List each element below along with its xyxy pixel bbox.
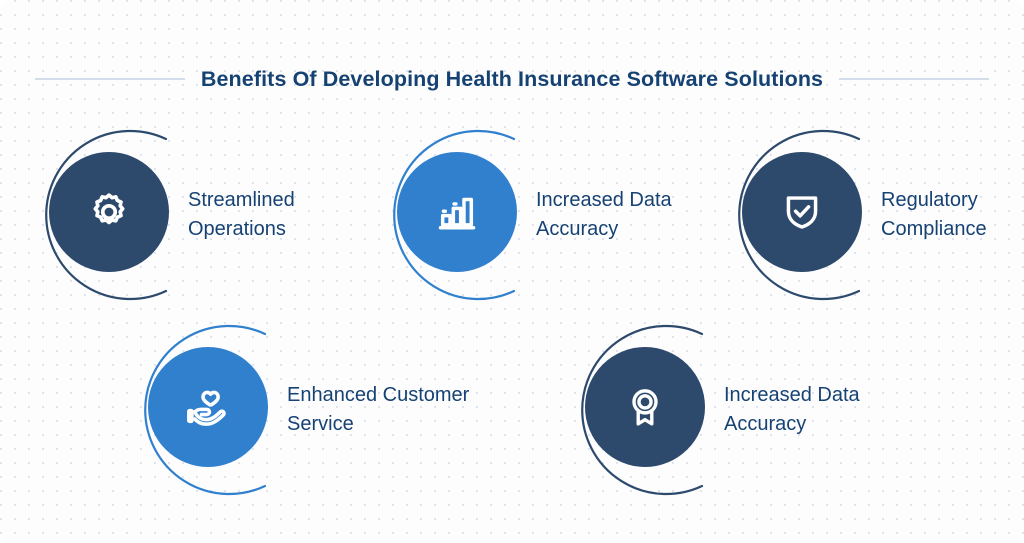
benefit-label: Increased Data Accuracy bbox=[536, 186, 707, 244]
badge-regulatory-compliance bbox=[707, 125, 887, 305]
benefit-item-enhanced-customer-service[interactable]: Enhanced Customer Service bbox=[113, 320, 550, 500]
infographic-canvas: Benefits Of Developing Health Insurance … bbox=[0, 0, 1024, 543]
page-title: Benefits Of Developing Health Insurance … bbox=[201, 67, 823, 92]
badge-streamlined-operations bbox=[14, 125, 194, 305]
title-rule-right bbox=[839, 78, 989, 80]
badge-enhanced-customer-service bbox=[113, 320, 293, 500]
badge-increased-data-accuracy-1 bbox=[362, 125, 542, 305]
benefit-item-increased-data-accuracy-1[interactable]: Increased Data Accuracy bbox=[362, 125, 707, 305]
gear-icon bbox=[86, 189, 132, 235]
benefit-item-streamlined-operations[interactable]: Streamlined Operations bbox=[14, 125, 362, 305]
benefit-item-regulatory-compliance[interactable]: Regulatory Compliance bbox=[707, 125, 1017, 305]
benefit-item-increased-data-accuracy-2[interactable]: Increased Data Accuracy bbox=[550, 320, 895, 500]
benefit-label: Regulatory Compliance bbox=[881, 186, 1017, 244]
badge-increased-data-accuracy-2 bbox=[550, 320, 730, 500]
benefits-row-2: Enhanced Customer Service Increased Data… bbox=[0, 320, 1024, 500]
benefits-row-1: Streamlined Operations bbox=[0, 125, 1024, 305]
benefit-label: Streamlined Operations bbox=[188, 186, 362, 244]
icon-circle bbox=[585, 347, 705, 467]
benefit-label: Increased Data Accuracy bbox=[724, 381, 895, 439]
icon-circle bbox=[742, 152, 862, 272]
header: Benefits Of Developing Health Insurance … bbox=[0, 62, 1024, 96]
benefit-label: Enhanced Customer Service bbox=[287, 381, 502, 439]
icon-circle bbox=[49, 152, 169, 272]
title-rule-left bbox=[35, 78, 185, 80]
shield-check-icon bbox=[780, 190, 824, 234]
bar-chart-icon bbox=[435, 190, 479, 234]
icon-circle bbox=[397, 152, 517, 272]
icon-circle bbox=[148, 347, 268, 467]
award-medal-icon bbox=[623, 385, 667, 429]
hand-heart-icon bbox=[185, 384, 231, 430]
